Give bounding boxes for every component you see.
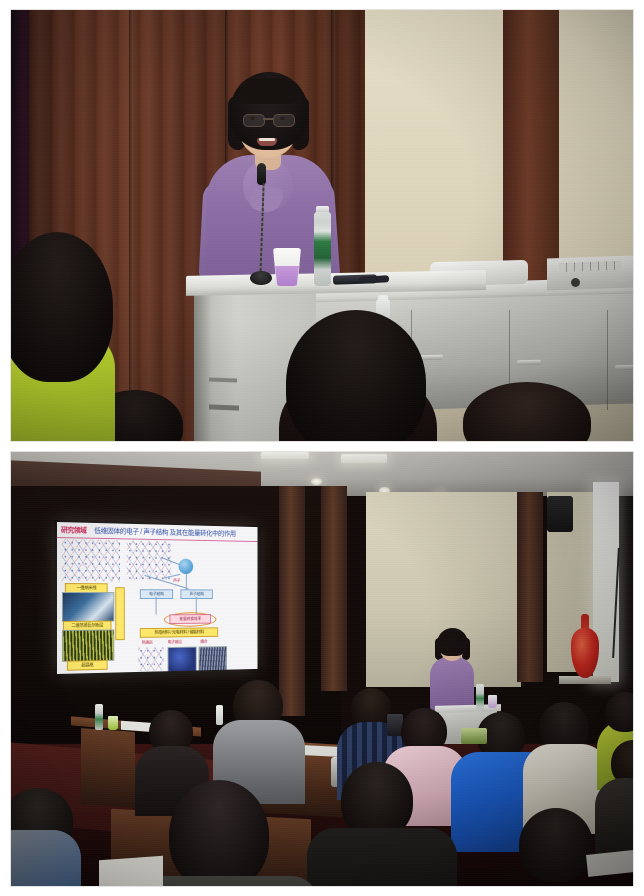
- slide-body: 一维纳米线 二维范德瓦尔斯层 超晶格 声子 电子结构 声子结构: [57, 537, 257, 674]
- green-cup: [108, 716, 118, 730]
- photo-composite-page: 研究领域 低维固体的电子 / 声子结构 及其在能量转化中的作用 一维纳米线 二维…: [0, 0, 644, 896]
- eyeglasses-bridge-icon: [263, 118, 273, 120]
- speaker-hair-fringe: [237, 78, 299, 104]
- water-bottle: [216, 705, 223, 725]
- attendee-head: [605, 692, 633, 732]
- paper-handout: [99, 856, 163, 886]
- paper-cup: [488, 695, 497, 708]
- slide-tag: 研究领域: [61, 525, 86, 536]
- paper-handout: [301, 745, 341, 757]
- wood-column: [321, 486, 347, 691]
- attendee-head: [341, 762, 413, 838]
- eye-left: [250, 117, 255, 120]
- drawer-handle[interactable]: [615, 365, 633, 371]
- inset-image-d: [199, 646, 227, 671]
- wood-column: [279, 486, 305, 716]
- column-label-3: 耦合: [200, 639, 207, 645]
- console-knob-icon[interactable]: [571, 278, 580, 287]
- diagram-connector: [156, 597, 157, 614]
- lattice-atoms: [127, 540, 172, 579]
- counter-seam: [607, 310, 608, 410]
- podium-shadow: [194, 291, 212, 441]
- bottom-bar-label: 热电材料 / 光电材料 / 储能材料: [140, 627, 218, 638]
- projection-screen[interactable]: 研究领域 低维固体的电子 / 声子结构 及其在能量转化中的作用 一维纳米线 二维…: [57, 522, 257, 674]
- water-bottle: [314, 212, 331, 286]
- vertical-axis-label: [115, 587, 124, 640]
- wood-seam: [129, 10, 133, 441]
- speaker-torso: [430, 657, 474, 711]
- audience-head: [11, 232, 113, 382]
- paper-cup-sleeve: [275, 266, 299, 286]
- teeth: [259, 138, 275, 141]
- branch-box-right: 声子结构: [180, 589, 212, 599]
- attendee-body: [11, 830, 81, 886]
- drawer-handle[interactable]: [517, 360, 541, 366]
- inset-image-b: [62, 629, 114, 662]
- water-bottle: [476, 684, 484, 710]
- attendee-head: [519, 808, 593, 882]
- inset-image-c: [168, 647, 197, 673]
- photo-hall-wide: 研究领域 低维固体的电子 / 声子结构 及其在能量转化中的作用 一维纳米线 二维…: [11, 452, 633, 886]
- speaker-hair: [437, 628, 468, 656]
- eyeglasses-lens-right-icon: [273, 114, 295, 127]
- photo-speaker-closeup: [11, 10, 633, 441]
- ceiling-light: [261, 452, 309, 459]
- ceiling-light: [341, 454, 387, 463]
- wall-speaker-icon: [547, 496, 573, 532]
- inset-image-a: [62, 592, 114, 622]
- diagram-node: [179, 559, 194, 574]
- lattice-atoms: [138, 647, 164, 671]
- attendee-black-hoodie: [307, 828, 457, 886]
- eye-right: [280, 117, 285, 120]
- branch-box-left: 电子结构: [140, 589, 173, 599]
- downlight-icon: [311, 478, 322, 485]
- column-label-2: 电子输运: [168, 639, 182, 645]
- inset-label-c: 超晶格: [67, 660, 108, 671]
- paper-handout: [586, 849, 633, 877]
- diagram-connector: [186, 574, 187, 589]
- eyeglasses-lens-left-icon: [243, 114, 265, 127]
- smartphone-icon[interactable]: [461, 728, 487, 744]
- node-label: 声子: [173, 578, 180, 584]
- microphone-icon: [257, 163, 266, 185]
- bench-desk-leg: [81, 728, 135, 808]
- water-bottle: [95, 704, 103, 730]
- wood-column: [517, 492, 543, 682]
- ellipse-label: 能量转换效率: [169, 614, 211, 624]
- attendee-head: [169, 780, 269, 886]
- column-label-1: 热输运: [142, 640, 153, 646]
- desk-puck: [250, 271, 272, 285]
- lattice-atoms: [62, 539, 120, 581]
